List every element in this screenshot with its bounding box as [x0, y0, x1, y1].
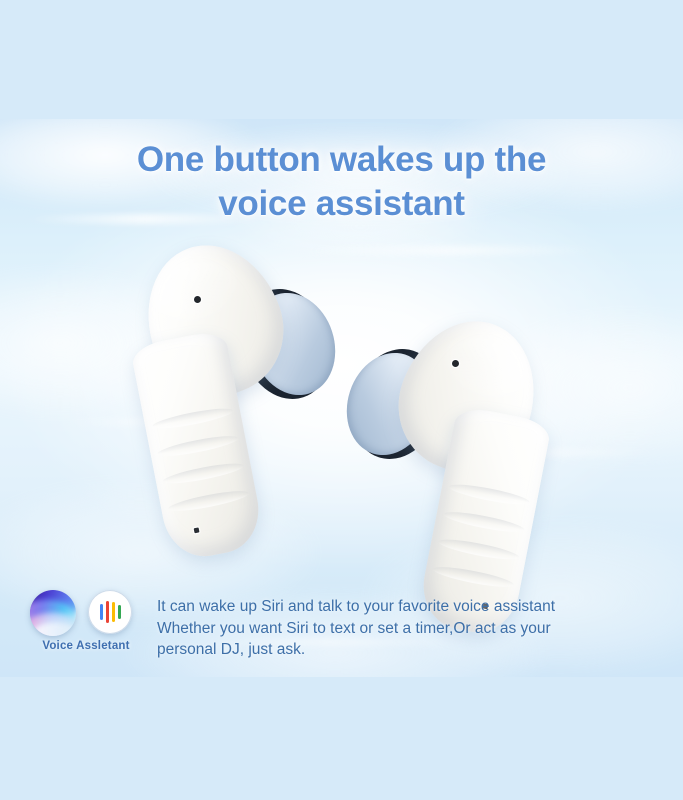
siri-orb-icon: [30, 590, 76, 636]
siri-orb-layer: [33, 622, 76, 636]
assistant-bar-yellow: [112, 602, 115, 622]
stem-rib: [167, 487, 250, 515]
feature-description-row: Voice Assletant It can wake up Siri and …: [0, 586, 683, 682]
assistant-bars: [88, 590, 132, 634]
feature-description-text: It can wake up Siri and talk to your fav…: [157, 596, 677, 661]
left-earbud-head-gloss: [147, 248, 244, 330]
product-marketing-image: One button wakes up the voice assistant: [0, 0, 683, 800]
stem-rib: [162, 460, 245, 488]
voice-assistant-label: Voice Assletant: [26, 640, 146, 652]
stem-rib: [437, 536, 520, 564]
stem-rib: [442, 508, 525, 536]
assistant-bar-green: [118, 605, 121, 619]
voice-assistant-badge-group: Voice Assletant: [26, 586, 146, 652]
stem-rib: [448, 481, 531, 509]
left-earbud-touch-mic-dot: [194, 296, 201, 303]
right-earbud-touch-mic-dot: [452, 360, 459, 367]
assistant-bar-blue: [100, 604, 103, 620]
assistant-bar-red: [106, 601, 109, 623]
google-assistant-bars-icon: [88, 590, 132, 634]
left-earbud-bottom-mic: [194, 527, 200, 533]
badge-icon-wrap: [26, 586, 146, 636]
left-earbud: [140, 240, 360, 560]
stem-rib: [156, 432, 239, 460]
stem-rib: [151, 405, 234, 433]
